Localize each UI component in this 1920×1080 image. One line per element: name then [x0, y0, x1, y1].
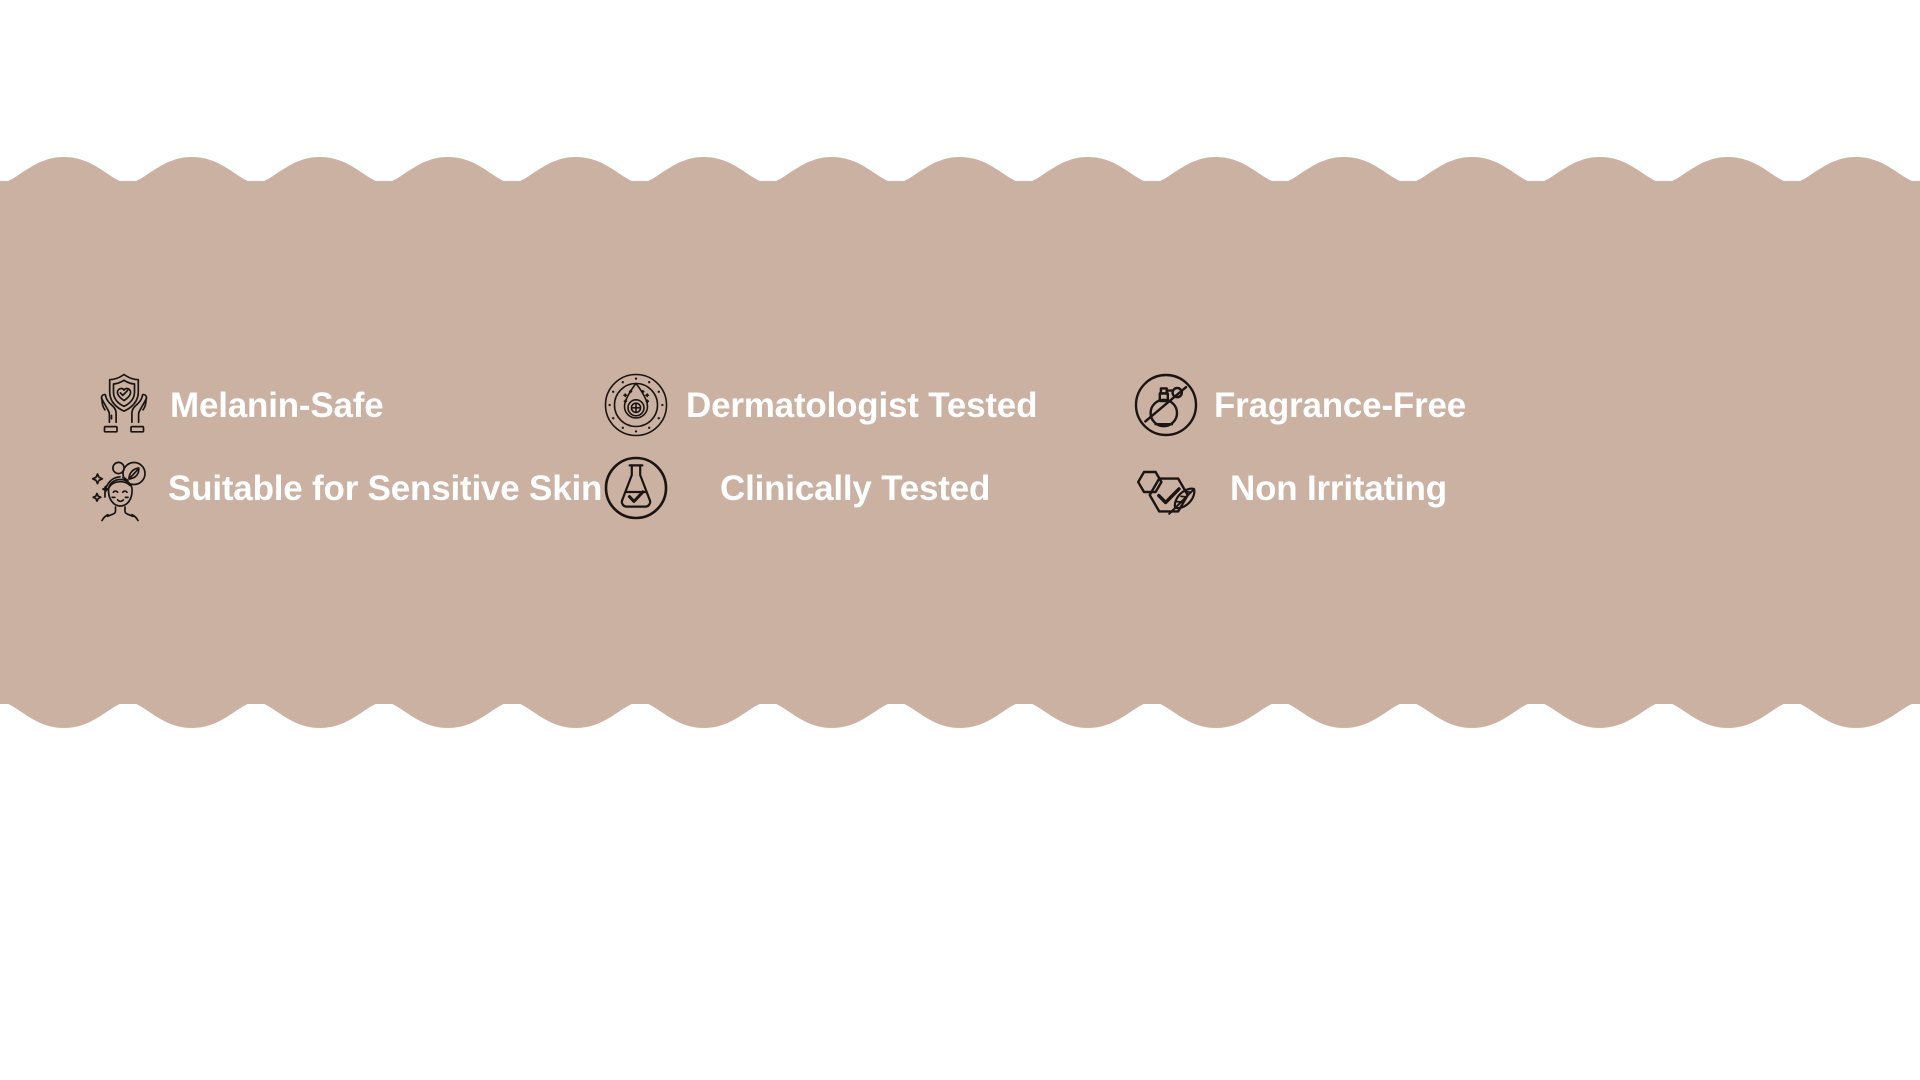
- claim-item-clinically-tested: Clinically Tested: [600, 452, 990, 524]
- claims-grid: Melanin-Safe: [0, 155, 1920, 730]
- claim-label: Clinically Tested: [720, 471, 990, 506]
- flask-in-circle-icon: [600, 452, 672, 524]
- claim-label: Non Irritating: [1230, 471, 1447, 506]
- claim-label: Fragrance-Free: [1214, 388, 1466, 423]
- claim-label: Melanin-Safe: [170, 388, 383, 423]
- face-with-leaf-icon: [88, 452, 160, 524]
- claim-item-fragrance-free: Fragrance-Free: [1130, 369, 1466, 441]
- claim-item-dermatologist-tested: Dermatologist Tested: [600, 369, 1037, 441]
- shield-in-hands-icon: [88, 369, 160, 441]
- claim-item-non-irritating: Non Irritating: [1130, 452, 1447, 524]
- claim-label: Dermatologist Tested: [686, 388, 1037, 423]
- claim-label: Suitable for Sensitive Skin: [168, 471, 602, 506]
- page-canvas: Melanin-Safe: [0, 0, 1920, 1080]
- droplet-in-circles-icon: [600, 369, 672, 441]
- claim-item-melanin-safe: Melanin-Safe: [88, 369, 383, 441]
- no-perfume-bottle-icon: [1130, 369, 1202, 441]
- hexagon-check-feather-icon: [1130, 452, 1202, 524]
- claim-item-suitable-for-sensitive-skin: Suitable for Sensitive Skin: [88, 452, 602, 524]
